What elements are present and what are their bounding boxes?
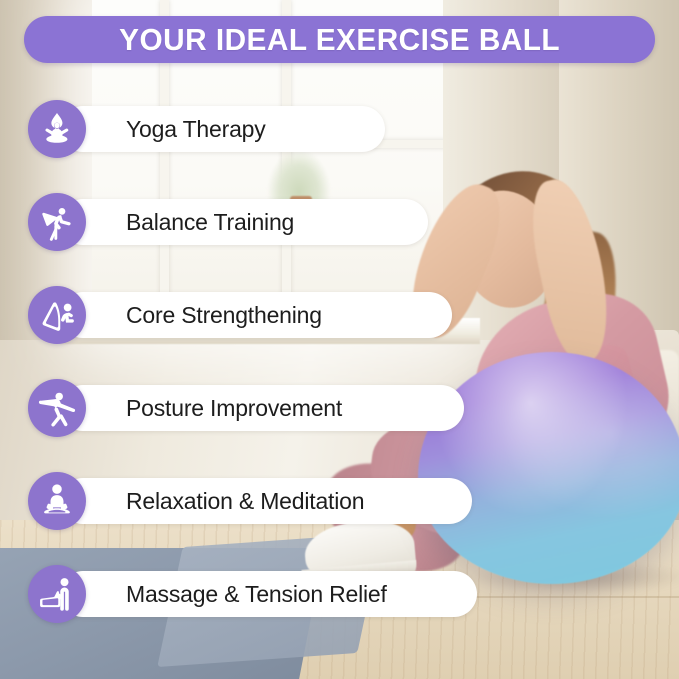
core-crunch-on-ball-icon — [36, 295, 78, 335]
feature-pill[interactable]: Yoga Therapy — [60, 106, 385, 152]
feature-badge[interactable] — [28, 472, 86, 530]
feature-pill[interactable]: Relaxation & Meditation — [60, 478, 472, 524]
feature-badge[interactable] — [28, 565, 86, 623]
feature-list: Yoga Therapy Balance Training — [0, 0, 679, 679]
feature-label: Balance Training — [126, 209, 294, 236]
feature-pill[interactable]: Core Strengthening — [60, 292, 452, 338]
feature-pill[interactable]: Balance Training — [60, 199, 428, 245]
posture-warrior-pose-icon — [36, 388, 78, 428]
feature-label: Massage & Tension Relief — [126, 581, 387, 608]
balance-dancer-pose-icon — [37, 202, 77, 242]
feature-badge[interactable] — [28, 193, 86, 251]
feature-pill[interactable]: Massage & Tension Relief — [60, 571, 477, 617]
feature-label: Posture Improvement — [126, 395, 342, 422]
feature-label: Yoga Therapy — [126, 116, 266, 143]
feature-badge[interactable] — [28, 100, 86, 158]
feature-pill[interactable]: Posture Improvement — [60, 385, 464, 431]
massage-therapy-icon — [36, 574, 78, 614]
feature-label: Relaxation & Meditation — [126, 488, 364, 515]
feature-label: Core Strengthening — [126, 302, 322, 329]
infographic-stage: YOUR IDEAL EXERCISE BALL Yoga Therapy — [0, 0, 679, 679]
feature-badge[interactable] — [28, 286, 86, 344]
meditation-seated-icon — [36, 481, 78, 521]
yoga-lotus-arms-up-icon — [38, 110, 76, 148]
feature-badge[interactable] — [28, 379, 86, 437]
